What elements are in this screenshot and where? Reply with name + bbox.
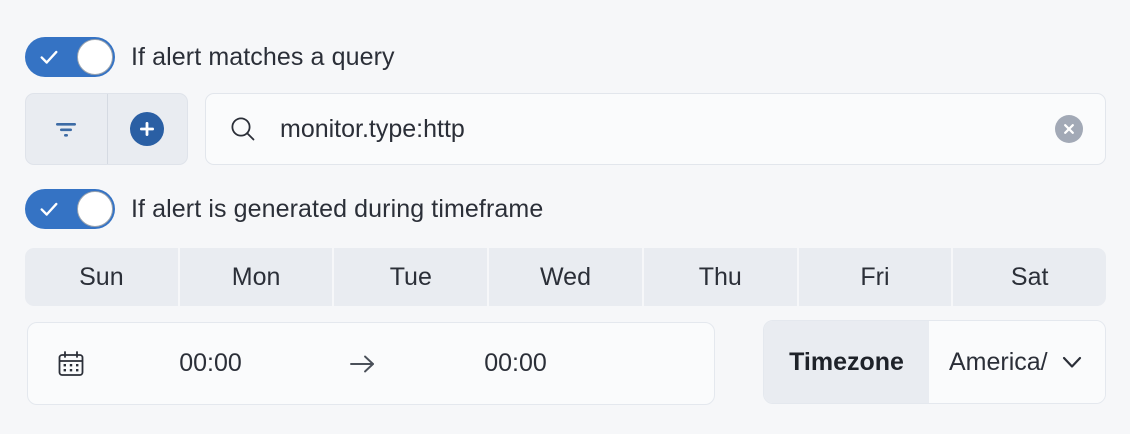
query-condition-label: If alert matches a query xyxy=(131,43,395,72)
timezone-label: Timezone xyxy=(764,321,929,403)
plus-icon xyxy=(136,118,158,140)
toggle-knob xyxy=(77,191,113,227)
search-input[interactable]: monitor.type:http xyxy=(280,115,1055,144)
start-time-input[interactable]: 00:00 xyxy=(88,349,333,378)
query-condition-toggle[interactable] xyxy=(25,37,115,77)
calendar-icon[interactable] xyxy=(54,347,88,381)
day-label: Thu xyxy=(699,263,742,292)
add-filter-button[interactable] xyxy=(107,94,188,164)
day-of-week-selector: Sun Mon Tue Wed Thu Fri Sat xyxy=(25,248,1106,306)
plus-circle xyxy=(130,112,164,146)
end-time-input[interactable]: 00:00 xyxy=(393,349,638,378)
day-label: Mon xyxy=(232,263,281,292)
day-label: Sat xyxy=(1011,263,1049,292)
close-icon xyxy=(1061,121,1077,137)
query-search-box[interactable]: monitor.type:http xyxy=(205,93,1106,165)
clear-search-button[interactable] xyxy=(1055,115,1083,143)
check-icon xyxy=(38,46,60,68)
day-label: Wed xyxy=(540,263,591,292)
day-label: Fri xyxy=(860,263,889,292)
filter-icon xyxy=(51,117,81,141)
day-label: Tue xyxy=(390,263,432,292)
query-input-row xyxy=(25,93,188,165)
timezone-value: America/ xyxy=(949,348,1049,377)
alert-conditions-panel: If alert matches a query xyxy=(0,0,1130,434)
time-range-picker[interactable]: 00:00 00:00 xyxy=(27,322,715,405)
timeframe-condition-toggle[interactable] xyxy=(25,189,115,229)
arrow-right-icon xyxy=(333,352,393,376)
timezone-select[interactable]: America/ xyxy=(929,321,1105,403)
chevron-down-icon xyxy=(1057,347,1087,377)
filter-button[interactable] xyxy=(26,94,107,164)
day-label: Sun xyxy=(79,263,123,292)
day-button-wed[interactable]: Wed xyxy=(487,248,642,306)
day-button-mon[interactable]: Mon xyxy=(178,248,333,306)
day-button-thu[interactable]: Thu xyxy=(642,248,797,306)
day-button-tue[interactable]: Tue xyxy=(332,248,487,306)
day-button-fri[interactable]: Fri xyxy=(797,248,952,306)
timezone-picker: Timezone America/ xyxy=(763,320,1106,404)
day-button-sun[interactable]: Sun xyxy=(25,248,178,306)
timeframe-condition-label: If alert is generated during timeframe xyxy=(131,195,543,224)
query-button-group xyxy=(25,93,188,165)
check-icon xyxy=(38,198,60,220)
day-button-sat[interactable]: Sat xyxy=(951,248,1106,306)
query-condition-toggle-row: If alert matches a query xyxy=(25,37,395,77)
timeframe-condition-toggle-row: If alert is generated during timeframe xyxy=(25,189,543,229)
toggle-knob xyxy=(77,39,113,75)
search-icon xyxy=(228,114,258,144)
